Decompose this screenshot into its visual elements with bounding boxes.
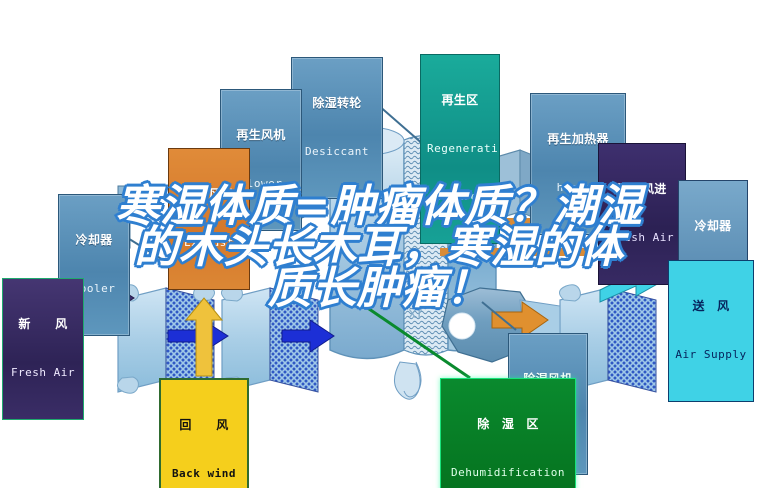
callout-exhaust-en: Exhaust xyxy=(175,237,243,249)
callout-fresh-air-cn: 新 风 xyxy=(9,318,77,331)
callout-back-wind-en: Back wind xyxy=(167,468,241,480)
callout-dehumidification-district[interactable]: 除 湿 区 Dehumidification District xyxy=(440,378,576,488)
callout-back-wind-cn: 回 风 xyxy=(167,419,241,432)
regeneration-return-duct xyxy=(440,248,600,256)
callout-dehumidification-district-cn: 除 湿 区 xyxy=(447,418,569,431)
callout-regeneration-area-en2: on Area xyxy=(427,191,493,203)
callout-regeneration-fresh-air-en: Fresh Air xyxy=(605,232,679,244)
diagram-canvas: xf 除湿转轮 Desiccant 再生风机 Blower 再生区 Regene… xyxy=(0,0,757,488)
callout-fresh-air[interactable]: 新 风 Fresh Air xyxy=(2,278,84,420)
callout-exhaust[interactable]: 再生风出 Exhaust xyxy=(168,148,250,290)
callout-back-wind[interactable]: 回 风 Back wind xyxy=(159,378,249,488)
callout-regeneration-area-en1: Regenerati xyxy=(427,143,493,155)
callout-regeneration-blower-cn: 再生风机 xyxy=(227,129,295,142)
callout-desiccant-rotor-en: Desiccant xyxy=(298,146,376,158)
callout-desiccant-rotor-cn: 除湿转轮 xyxy=(298,97,376,110)
callout-regeneration-area[interactable]: 再生区 Regenerati on Area xyxy=(420,54,500,244)
callout-air-supply[interactable]: 送 风 Air Supply xyxy=(668,260,754,402)
callout-regeneration-fresh-air-cn: 再生风进 xyxy=(605,183,679,196)
callout-fresh-air-en: Fresh Air xyxy=(9,367,77,379)
callout-cooler-right-cn: 冷却器 xyxy=(685,220,741,233)
callout-air-supply-en: Air Supply xyxy=(675,349,747,361)
callout-exhaust-cn: 再生风出 xyxy=(175,188,243,201)
watermark-text: xf xyxy=(408,304,423,322)
callout-desiccant-rotor[interactable]: 除湿转轮 Desiccant xyxy=(291,57,383,199)
callout-cooler-left-cn: 冷却器 xyxy=(65,234,123,247)
callout-dehumidification-district-en1: Dehumidification xyxy=(447,467,569,479)
callout-air-supply-cn: 送 风 xyxy=(675,300,747,313)
callout-regeneration-area-cn: 再生区 xyxy=(427,94,493,107)
